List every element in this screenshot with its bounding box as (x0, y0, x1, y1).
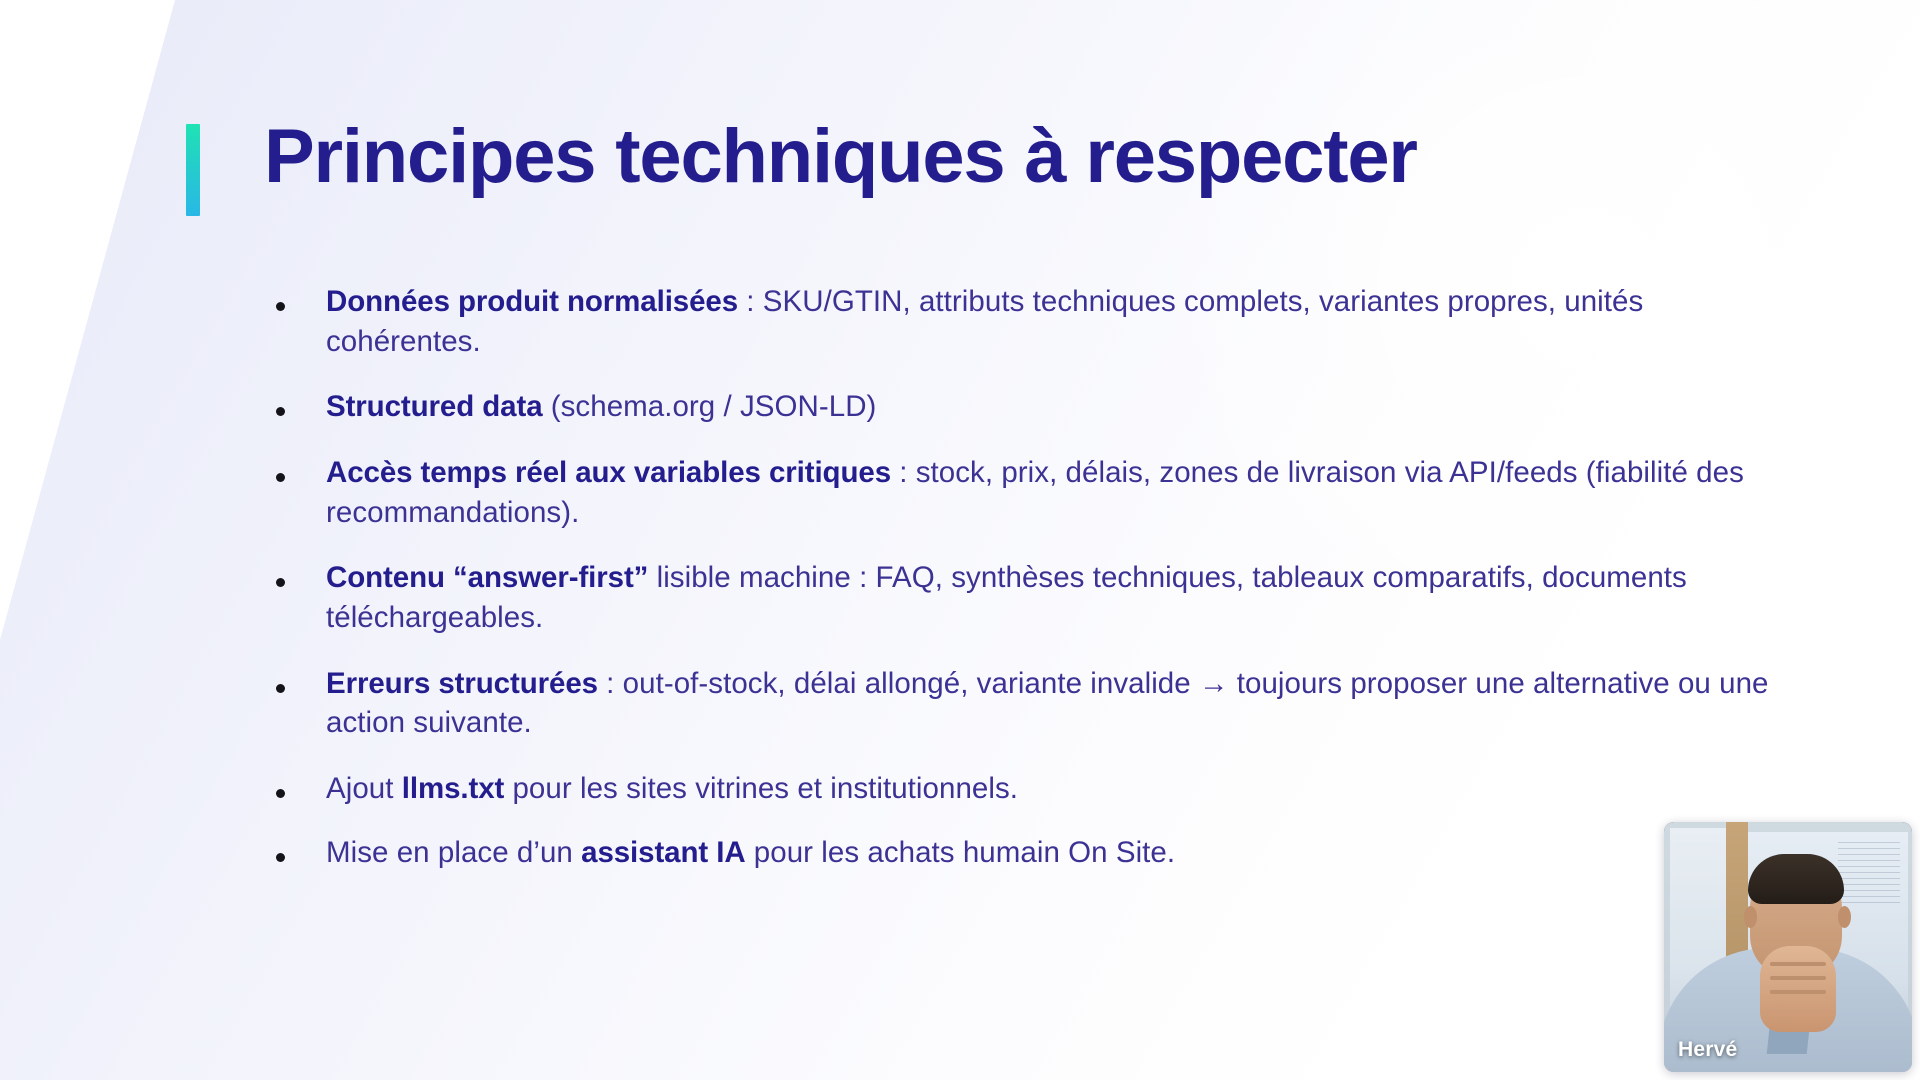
bullet-dot-icon (276, 789, 285, 798)
bullet-text: Structured data (schema.org / JSON-LD) (326, 387, 876, 427)
bullet-bold-lead: Accès temps réel aux variables critiques (326, 456, 891, 489)
list-item: Structured data (schema.org / JSON-LD) (276, 387, 1796, 427)
bullet-rest: pour les achats humain On Site. (746, 836, 1176, 869)
bullet-bold-term: assistant IA (581, 836, 745, 869)
list-item: Contenu “answer-first” lisible machine :… (276, 558, 1796, 637)
participant-hair (1748, 854, 1844, 904)
bullet-bold-term: llms.txt (402, 772, 504, 805)
bullet-rest: (schema.org / JSON-LD) (543, 390, 877, 423)
bullet-text: Données produit normalisées : SKU/GTIN, … (326, 282, 1774, 361)
bullet-bold-lead: Erreurs structurées (326, 667, 598, 700)
participant-ear-left (1744, 906, 1757, 928)
presentation-slide: Principes techniques à respecter Données… (0, 0, 1920, 1080)
participant-ear-right (1838, 906, 1851, 928)
participant-hands (1760, 946, 1836, 1032)
wall-notes (1838, 842, 1900, 908)
bullet-text: Erreurs structurées : out-of-stock, déla… (326, 664, 1774, 743)
bullet-text: Contenu “answer-first” lisible machine :… (326, 558, 1774, 637)
bullet-text: Accès temps réel aux variables critiques… (326, 453, 1774, 532)
title-accent-bar (186, 124, 200, 216)
page-title: Principes techniques à respecter (264, 118, 1417, 196)
participant-video-tile[interactable]: Hervé (1664, 822, 1912, 1072)
bullet-dot-icon (276, 853, 285, 862)
bullet-prefix: Ajout (326, 772, 402, 805)
bullet-dot-icon (276, 302, 285, 311)
bullet-bold-lead: Contenu “answer-first” (326, 561, 648, 594)
bullet-dot-icon (276, 684, 285, 693)
bullet-bold-lead: Structured data (326, 390, 543, 423)
bullet-dot-icon (276, 473, 285, 482)
bullet-text: Ajout llms.txt pour les sites vitrines e… (326, 769, 1018, 809)
bullet-dot-icon (276, 407, 285, 416)
list-item: Ajout llms.txt pour les sites vitrines e… (276, 769, 1796, 809)
list-item: Erreurs structurées : out-of-stock, déla… (276, 664, 1796, 743)
bullet-dot-icon (276, 578, 285, 587)
list-item: Données produit normalisées : SKU/GTIN, … (276, 282, 1796, 361)
slide-title-row: Principes techniques à respecter (186, 118, 1417, 216)
list-item: Accès temps réel aux variables critiques… (276, 453, 1796, 532)
bullet-prefix: Mise en place d’un (326, 836, 581, 869)
bullet-bold-lead: Données produit normalisées (326, 285, 738, 318)
list-item: Mise en place d’un assistant IA pour les… (276, 833, 1796, 873)
bullet-rest: pour les sites vitrines et institutionne… (504, 772, 1018, 805)
bullet-text: Mise en place d’un assistant IA pour les… (326, 833, 1175, 873)
bullet-list: Données produit normalisées : SKU/GTIN, … (276, 282, 1796, 896)
participant-name-label: Hervé (1678, 1038, 1737, 1062)
